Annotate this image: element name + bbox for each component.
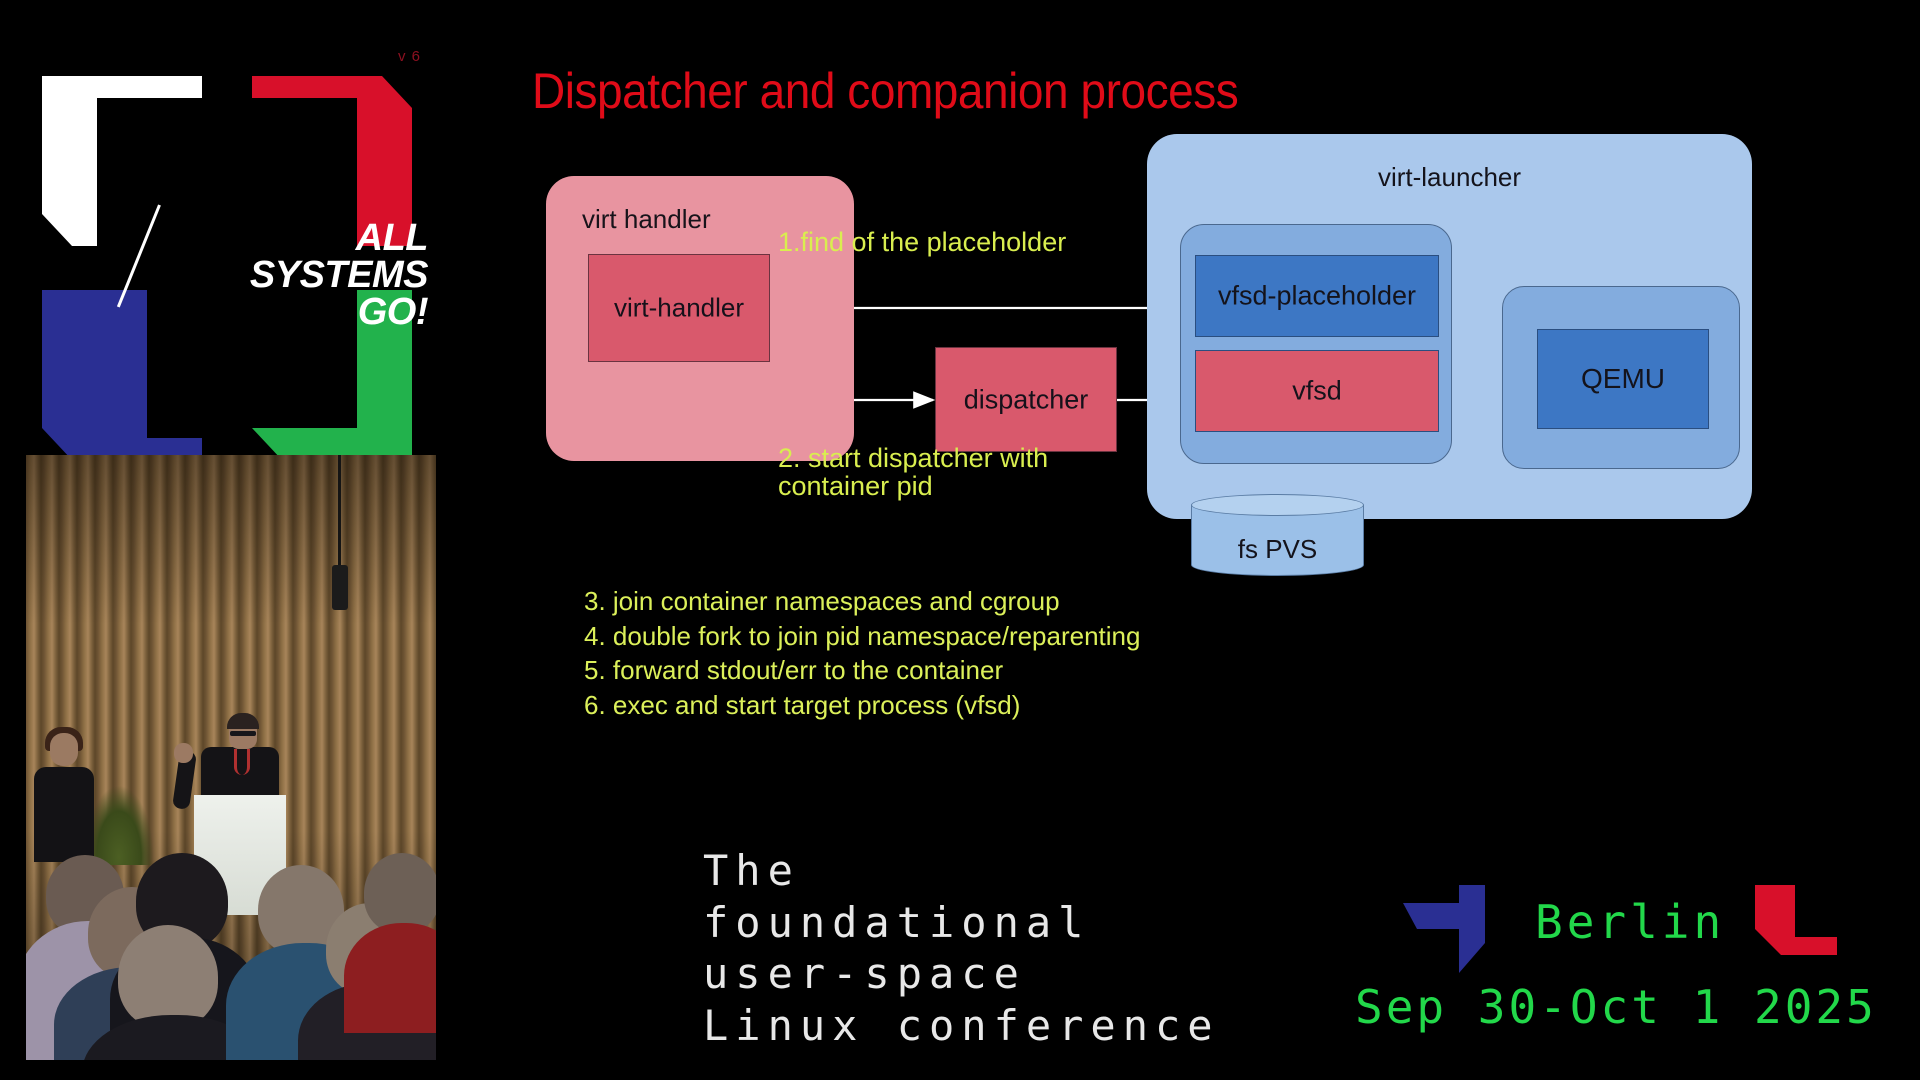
cylinder-top xyxy=(1191,494,1364,516)
virt-handler-container: virt handler virt-handler xyxy=(546,176,854,461)
qemu-label: QEMU xyxy=(1538,363,1708,395)
tagline-line-4: Linux conference xyxy=(703,1000,1220,1052)
moderator-head xyxy=(50,733,78,766)
event-city: Berlin xyxy=(1535,895,1725,949)
virt-launcher-pod: virt-launcher vfsd-placeholder vfsd QEMU xyxy=(1147,134,1752,519)
tagline-line-1: The xyxy=(703,845,1220,897)
architecture-diagram: virt handler virt-handler dispatcher vir… xyxy=(440,110,1920,570)
vfsd-placeholder-box: vfsd-placeholder xyxy=(1195,255,1439,337)
list-item: 6. exec and start target process (vfsd) xyxy=(584,688,1140,723)
dispatcher-label: dispatcher xyxy=(936,384,1116,415)
virt-handler-process-box: virt-handler xyxy=(588,254,770,362)
all-systems-go-logo: ALL SYSTEMS GO! xyxy=(28,50,428,450)
vfsd-label: vfsd xyxy=(1196,376,1438,407)
fs-pvs-storage-cylinder: fs PVS xyxy=(1191,494,1364,576)
annotation-step-2-line-1: 2. start dispatcher with xyxy=(778,444,1078,472)
qemu-container-group: QEMU xyxy=(1502,286,1740,469)
logo-line-3: GO! xyxy=(178,294,428,331)
qemu-box: QEMU xyxy=(1537,329,1709,429)
logo-wordmark: ALL SYSTEMS GO! xyxy=(178,220,428,332)
event-dates: Sep 30-Oct 1 2025 xyxy=(1355,980,1877,1034)
version-tag: v 6 xyxy=(398,48,421,65)
ceiling-cable xyxy=(338,455,341,575)
speaker-video-feed xyxy=(26,455,436,1060)
tagline-line-2: foundational xyxy=(703,897,1220,949)
vfsd-placeholder-label: vfsd-placeholder xyxy=(1196,281,1438,312)
annotation-step-1: 1.find of the placeholder xyxy=(778,228,1066,256)
left-sidebar: ALL SYSTEMS GO! v 6 xyxy=(0,0,440,1080)
vfsd-box: vfsd xyxy=(1195,350,1439,432)
speaker-lanyard xyxy=(234,749,250,775)
steps-list: 3. join container namespaces and cgroup … xyxy=(584,584,1140,722)
speaker-hand xyxy=(174,743,193,763)
annotation-step-2: 2. start dispatcher with container pid xyxy=(778,444,1078,501)
annotation-step-2-line-2: container pid xyxy=(778,472,1078,500)
audience-head xyxy=(364,853,436,933)
event-chevron-blue-icon xyxy=(1403,885,1485,973)
audience-shoulder xyxy=(344,923,436,1033)
speaker-photo xyxy=(26,455,436,1060)
vfsd-container-group: vfsd-placeholder vfsd xyxy=(1180,224,1452,464)
presentation-slide: ALL SYSTEMS GO! v 6 xyxy=(0,0,1920,1080)
fs-pvs-label: fs PVS xyxy=(1191,534,1364,565)
speaker-glasses xyxy=(230,731,256,736)
logo-line-2: SYSTEMS xyxy=(178,257,428,294)
audience-head xyxy=(118,925,218,1029)
event-info-block: Berlin Sep 30-Oct 1 2025 xyxy=(1355,885,1895,1050)
tagline-line-3: user-space xyxy=(703,948,1220,1000)
dispatcher-box: dispatcher xyxy=(935,347,1117,452)
moderator-body xyxy=(34,767,94,862)
potted-plant xyxy=(84,785,154,865)
list-item: 3. join container namespaces and cgroup xyxy=(584,584,1140,619)
list-item: 4. double fork to join pid namespace/rep… xyxy=(584,619,1140,654)
virt-handler-container-label: virt handler xyxy=(582,204,711,235)
logo-line-1: ALL xyxy=(178,220,428,257)
virt-handler-process-label: virt-handler xyxy=(589,293,769,324)
list-item: 5. forward stdout/err to the container xyxy=(584,653,1140,688)
event-chevron-red-icon xyxy=(1755,885,1837,973)
virt-launcher-label: virt-launcher xyxy=(1147,162,1752,193)
ceiling-device xyxy=(332,565,348,610)
conference-tagline: The foundational user-space Linux confer… xyxy=(703,845,1220,1052)
